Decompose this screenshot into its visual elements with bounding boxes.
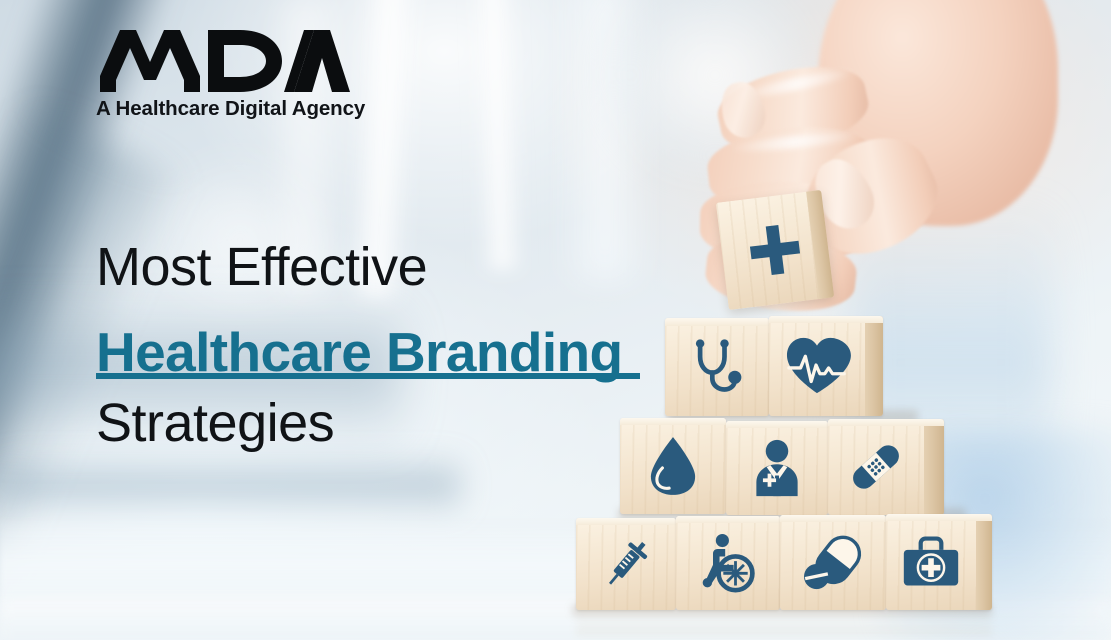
block-face — [620, 418, 726, 514]
heart-pulse-icon — [783, 335, 851, 397]
block-bandage — [828, 419, 944, 515]
block-pills — [780, 515, 886, 610]
block-held-cross — [716, 190, 834, 310]
blood-drop-icon — [648, 435, 698, 497]
stethoscope-icon — [687, 336, 747, 398]
block-wheelchair — [676, 516, 780, 610]
finger-index — [712, 55, 875, 162]
syringe-icon — [597, 534, 655, 594]
first-aid-kit-icon — [901, 534, 961, 590]
block-face — [780, 515, 886, 610]
block-side — [865, 316, 883, 416]
lab-coat-blur-4 — [560, 0, 650, 280]
headline-underline — [96, 373, 640, 379]
mda-logo[interactable] — [98, 28, 398, 94]
finger-middle-highlight — [730, 129, 861, 155]
bandage-icon — [845, 436, 907, 498]
pills-icon — [802, 534, 864, 592]
block-face — [716, 190, 834, 310]
block-heart-pulse — [769, 316, 883, 416]
block-side — [976, 514, 992, 610]
block-stethoscope — [665, 318, 769, 416]
block-side — [924, 419, 944, 515]
bokeh-highlight-1 — [600, 0, 830, 180]
finger-index-highlight — [736, 66, 856, 103]
doctor-icon — [747, 438, 807, 498]
headline-line-3: Strategies — [96, 392, 334, 454]
block-face — [726, 421, 828, 515]
block-first-aid-kit — [886, 514, 992, 610]
block-face — [886, 514, 976, 610]
block-doctor — [726, 421, 828, 515]
block-blood-drop — [620, 418, 726, 514]
headline-line-1: Most Effective — [96, 236, 427, 298]
block-reflection — [576, 610, 992, 636]
block-face — [665, 318, 769, 416]
block-face — [576, 518, 676, 610]
background-band-left-2 — [0, 455, 460, 515]
fingernail-index — [716, 78, 770, 142]
block-syringe — [576, 518, 676, 610]
block-face — [676, 516, 780, 610]
block-face — [828, 419, 924, 515]
lab-coat-blur-2 — [470, 0, 525, 271]
medical-cross-icon — [743, 218, 808, 283]
mda-logo-wordmark — [98, 28, 350, 94]
brand-tagline: A Healthcare Digital Agency — [96, 97, 365, 121]
wheelchair-icon — [697, 533, 759, 593]
palm — [818, 0, 1058, 226]
hero-banner: A Healthcare Digital Agency Most Effecti… — [0, 0, 1111, 640]
block-face — [769, 316, 865, 416]
